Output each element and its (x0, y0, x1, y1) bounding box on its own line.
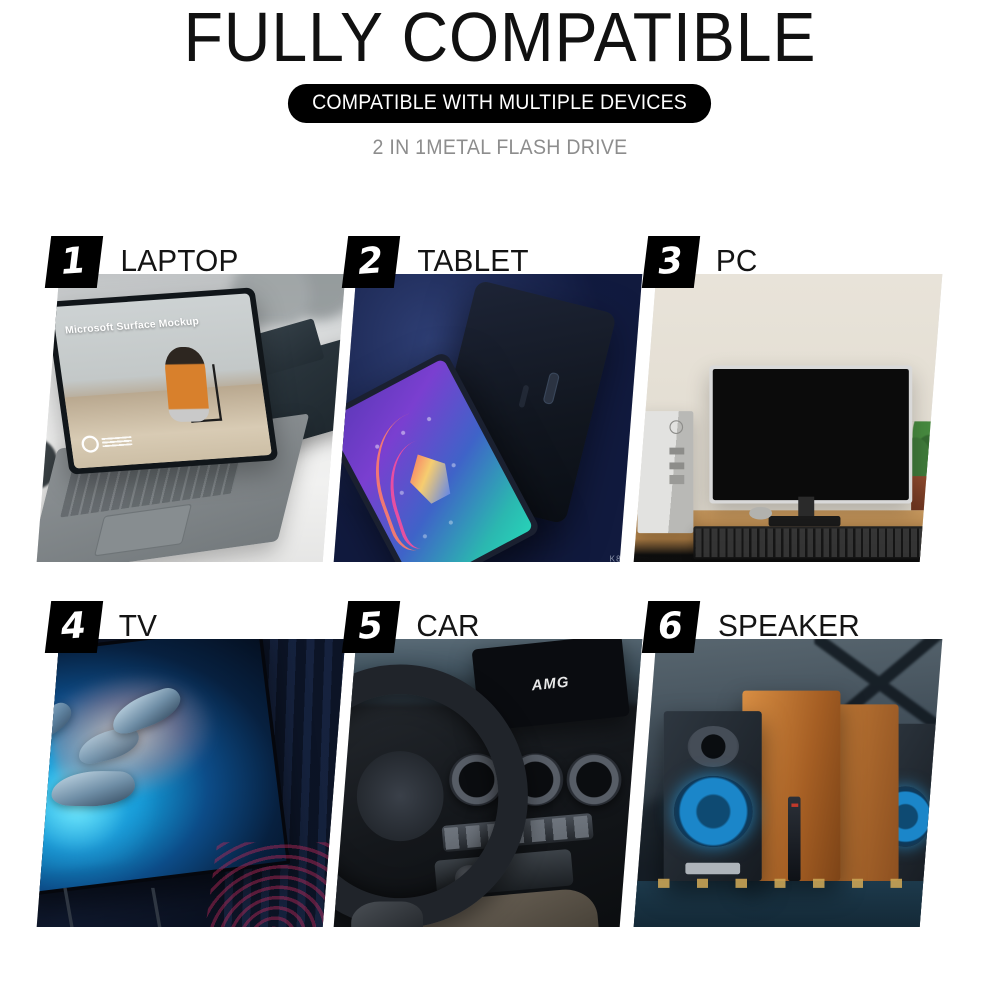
header: FULLY COMPATIBLE COMPATIBLE WITH MULTIPL… (0, 0, 1000, 160)
card-caption: 5 CAR (345, 601, 481, 655)
number-badge: 3 (642, 236, 700, 288)
tv-stand-legs (64, 888, 163, 927)
tagline: 2 IN 1METAL FLASH DRIVE (35, 136, 965, 160)
card-image-frame (37, 639, 346, 927)
device-card-car[interactable]: 5 CAR AMG (345, 601, 645, 931)
speaker-unit-left (664, 711, 762, 882)
device-row-1: 1 LAPTOP (0, 236, 1000, 601)
pc-keyboard (693, 526, 928, 559)
badge-number: 6 (657, 608, 685, 646)
badge-number: 2 (357, 243, 385, 281)
car-interior-photo: AMG (334, 639, 643, 927)
pc-monitor (710, 365, 912, 503)
number-badge: 5 (342, 601, 400, 653)
screen-logo (80, 432, 133, 452)
screen-overlay-text: Microsoft Surface Mockup (64, 314, 199, 335)
badge-number: 1 (60, 243, 88, 281)
pc-mouse (749, 507, 772, 520)
card-label: TABLET (417, 236, 528, 286)
speaker-bass-port (686, 863, 741, 875)
device-card-laptop[interactable]: 1 LAPTOP (48, 236, 348, 566)
badge-number: 5 (357, 608, 385, 646)
speaker-woofer (674, 776, 752, 848)
device-card-speaker[interactable]: 6 SPEAKER (645, 601, 945, 931)
card-image-frame: AMG (334, 639, 643, 927)
device-row-2: 4 TV (0, 601, 1000, 966)
card-caption: 1 LAPTOP (48, 236, 241, 290)
speaker-feet (658, 878, 919, 888)
card-caption: 3 PC (645, 236, 758, 290)
car-screen-logo: AMG (530, 672, 570, 693)
speaker-remote (788, 796, 801, 881)
number-badge: 2 (342, 236, 400, 288)
car-gear-shifter (351, 901, 423, 927)
card-label: TV (119, 601, 157, 651)
page-title: FULLY COMPATIBLE (40, 0, 960, 74)
laptop-trackpad (94, 504, 192, 557)
laptop-photo: Microsoft Surface Mockup (37, 274, 346, 562)
screen-person (163, 346, 209, 421)
card-caption: 4 TV (48, 601, 158, 655)
badge-number: 4 (60, 608, 88, 646)
number-badge: 1 (45, 236, 103, 288)
card-image-frame: K80S (334, 274, 643, 562)
number-badge: 4 (45, 601, 103, 653)
television-photo (37, 639, 346, 927)
desktop-pc-photo (634, 274, 943, 562)
bookshelf-speakers-photo (634, 639, 943, 927)
card-image-frame: Microsoft Surface Mockup (37, 274, 346, 562)
pc-monitor-foot (768, 516, 840, 526)
number-badge: 6 (642, 601, 700, 653)
product-infographic: FULLY COMPATIBLE COMPATIBLE WITH MULTIPL… (0, 0, 1000, 994)
speaker-tweeter (688, 726, 739, 767)
card-label: PC (716, 236, 758, 286)
card-label: LAPTOP (120, 236, 238, 286)
speaker-table (634, 882, 943, 927)
card-label: CAR (416, 601, 479, 651)
laptop-screen: Microsoft Surface Mockup (52, 293, 272, 468)
tv-theater-seats (204, 842, 346, 927)
car-air-vent (566, 753, 621, 806)
laptop-lid: Microsoft Surface Mockup (45, 287, 278, 474)
device-grid: 1 LAPTOP (0, 236, 1000, 966)
subtitle-pill-wrap: COMPATIBLE WITH MULTIPLE DEVICES (0, 84, 1000, 123)
device-card-tablet[interactable]: 2 TABLET (345, 236, 645, 566)
device-card-tv[interactable]: 4 TV (48, 601, 348, 931)
subtitle-pill: COMPATIBLE WITH MULTIPLE DEVICES (288, 84, 711, 123)
card-image-frame (634, 274, 943, 562)
card-label: SPEAKER (718, 601, 860, 651)
badge-number: 3 (657, 243, 685, 281)
card-caption: 2 TABLET (345, 236, 531, 290)
pc-tower (638, 411, 693, 532)
device-card-pc[interactable]: 3 PC (645, 236, 945, 566)
tablet-model-text: K80S (610, 556, 634, 562)
tablet-photo: K80S (334, 274, 643, 562)
card-image-frame (634, 639, 943, 927)
tablet-model-code: K80S (610, 556, 635, 562)
card-caption: 6 SPEAKER (645, 601, 863, 655)
